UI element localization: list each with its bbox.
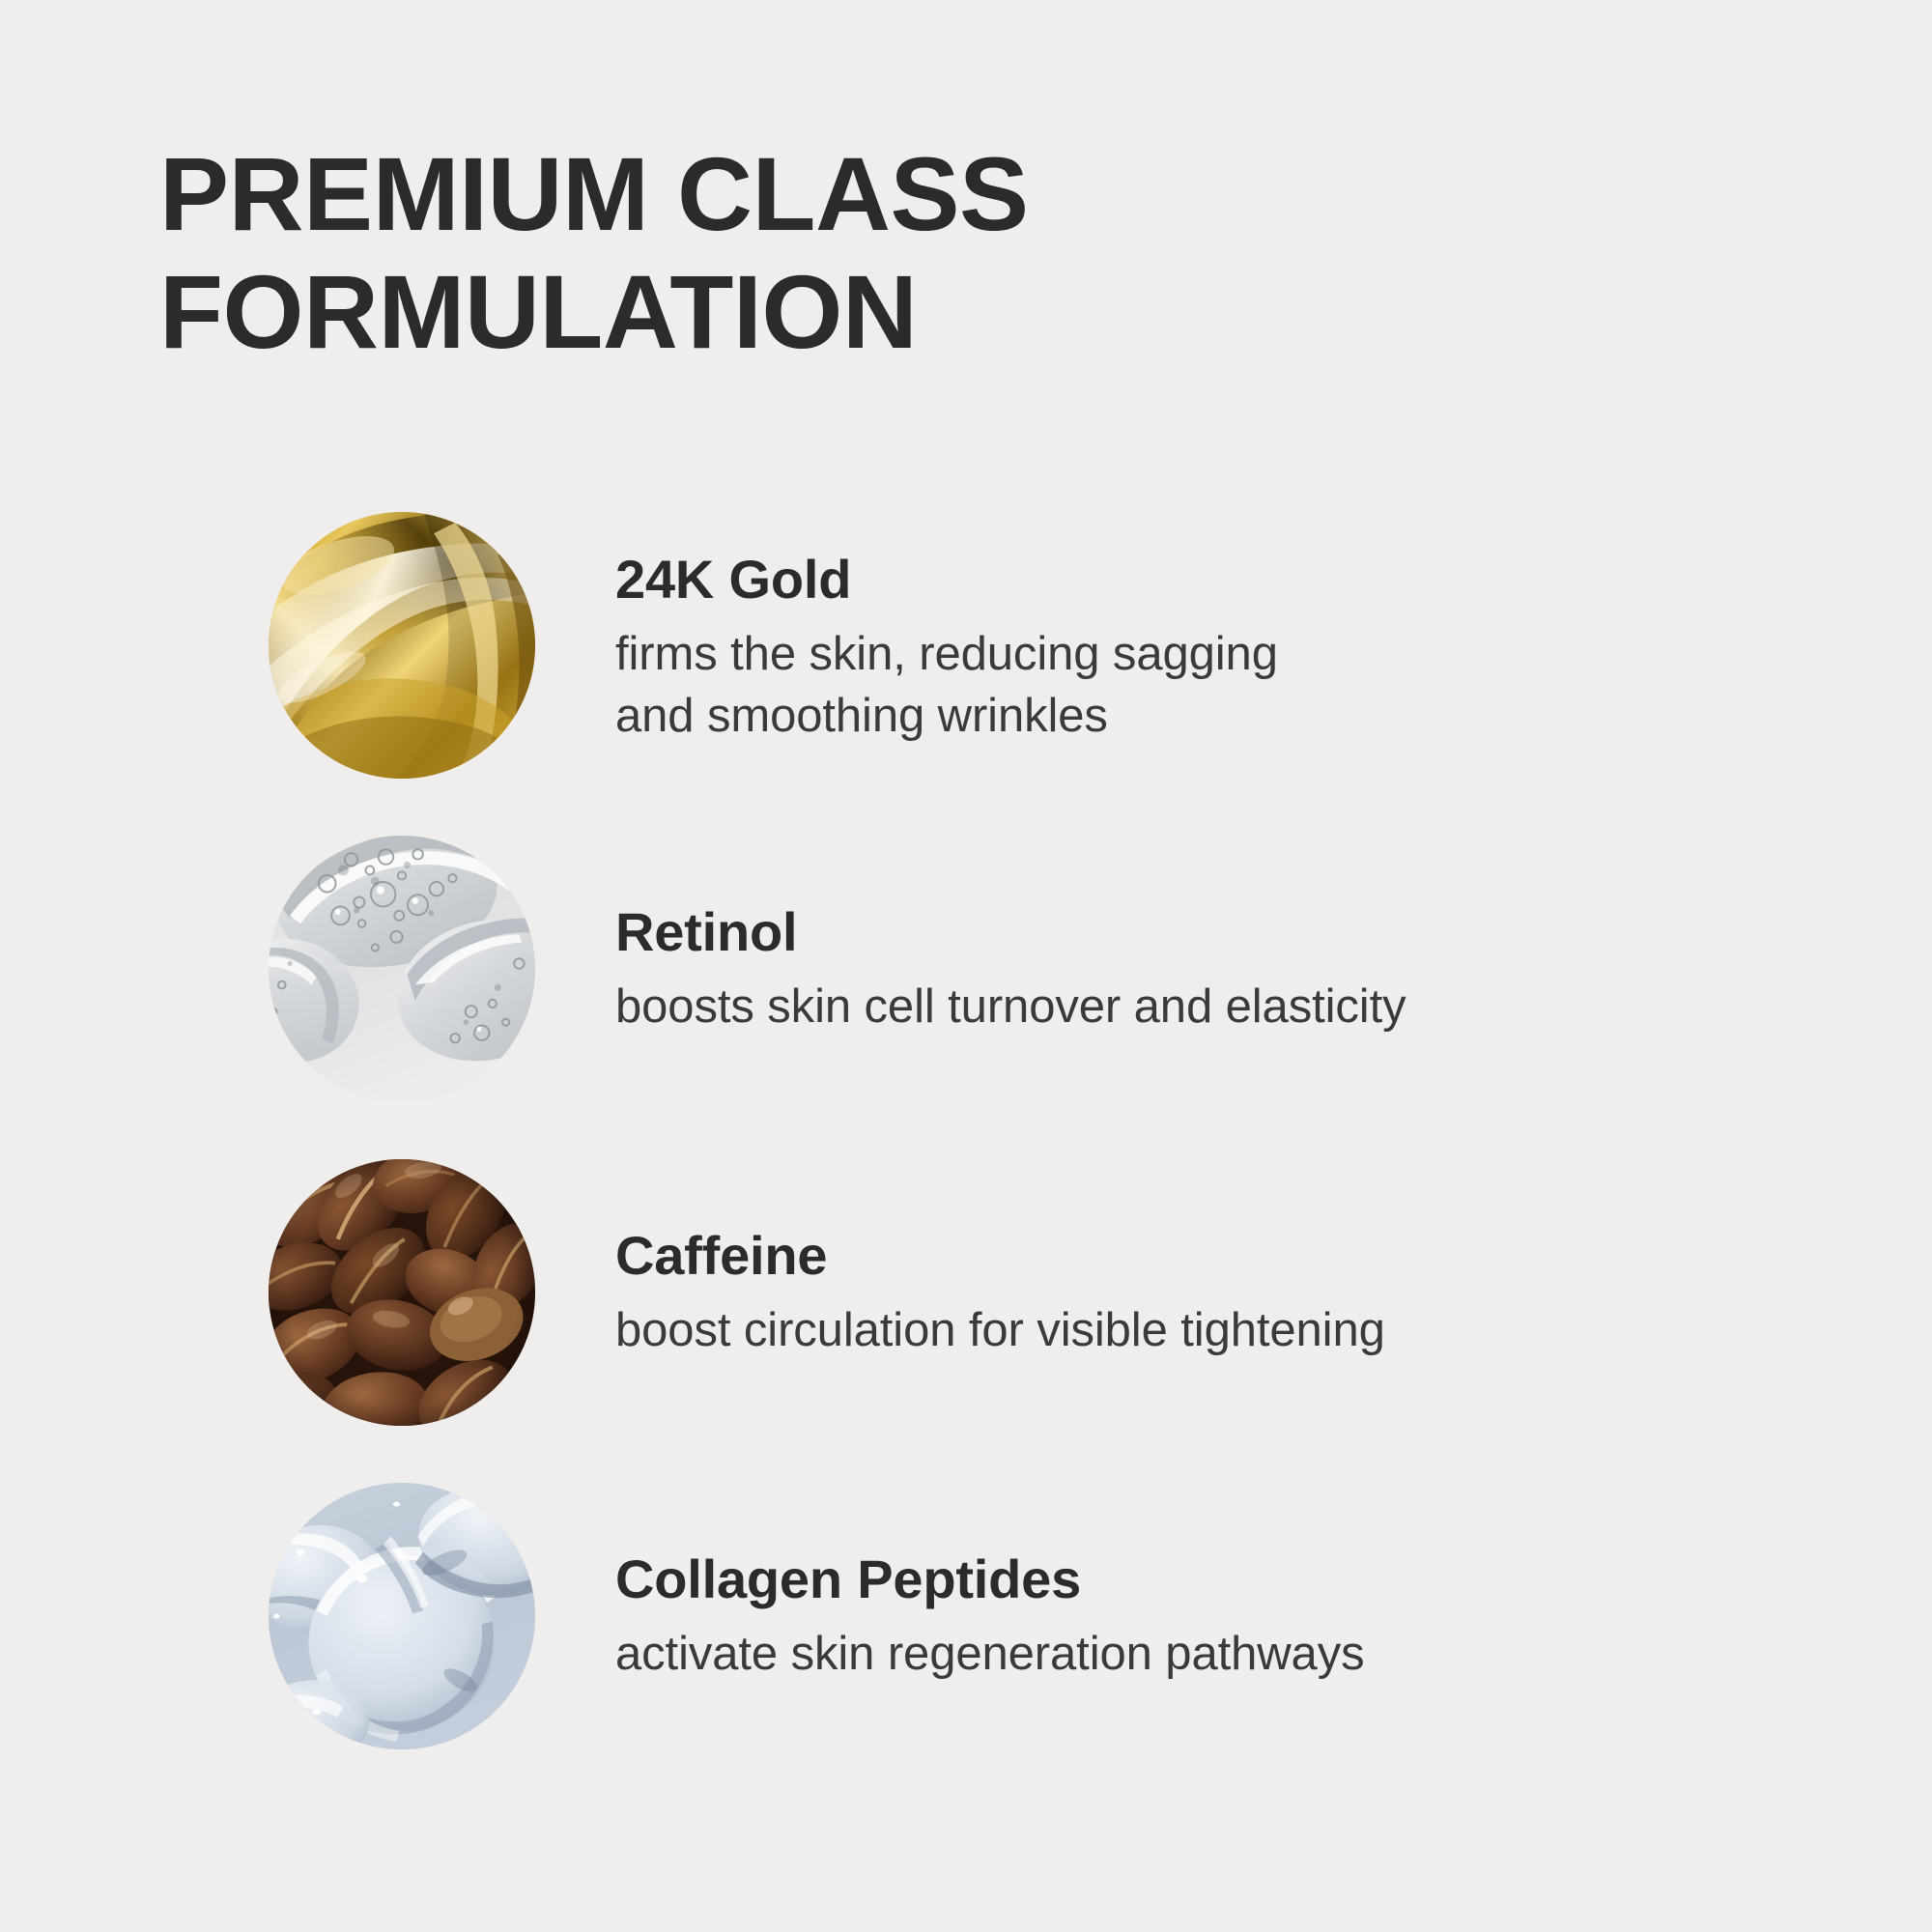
ingredient-name: Caffeine xyxy=(615,1226,1833,1287)
page-title: PREMIUM CLASS FORMULATION xyxy=(159,135,1415,371)
blue-gel-droplets-image xyxy=(269,1483,535,1749)
ingredient-description: boosts skin cell turnover and elasticity xyxy=(615,977,1833,1038)
page-title-line-2: FORMULATION xyxy=(159,253,1415,371)
list-item: Caffeine boost circulation for visible t… xyxy=(0,1130,1932,1454)
list-item: 24K Gold firms the skin, reducing saggin… xyxy=(0,483,1932,807)
clear-gel-bubbles-image xyxy=(269,836,535,1102)
ingredient-description: activate skin regeneration pathways xyxy=(615,1624,1833,1686)
ingredient-description: firms the skin, reducing sagging and smo… xyxy=(615,624,1833,747)
list-item: Collagen Peptides activate skin regenera… xyxy=(0,1454,1932,1777)
ingredient-copy: Retinol boosts skin cell turnover and el… xyxy=(615,902,1833,1037)
ingredient-name: 24K Gold xyxy=(615,550,1833,611)
ingredient-list: 24K Gold firms the skin, reducing saggin… xyxy=(0,483,1932,1777)
gold-foil-swirl-image xyxy=(269,512,535,779)
ingredient-copy: Caffeine boost circulation for visible t… xyxy=(615,1226,1833,1361)
page-title-line-1: PREMIUM CLASS xyxy=(159,135,1415,253)
ingredient-copy: 24K Gold firms the skin, reducing saggin… xyxy=(615,550,1833,747)
ingredient-copy: Collagen Peptides activate skin regenera… xyxy=(615,1549,1833,1685)
ingredient-name: Retinol xyxy=(615,902,1833,963)
roasted-coffee-beans-image xyxy=(269,1159,535,1426)
list-item: Retinol boosts skin cell turnover and el… xyxy=(0,807,1932,1130)
ingredient-description: boost circulation for visible tightening xyxy=(615,1300,1833,1362)
ingredient-name: Collagen Peptides xyxy=(615,1549,1833,1610)
ingredient-infographic-page: PREMIUM CLASS FORMULATION xyxy=(0,0,1932,1932)
